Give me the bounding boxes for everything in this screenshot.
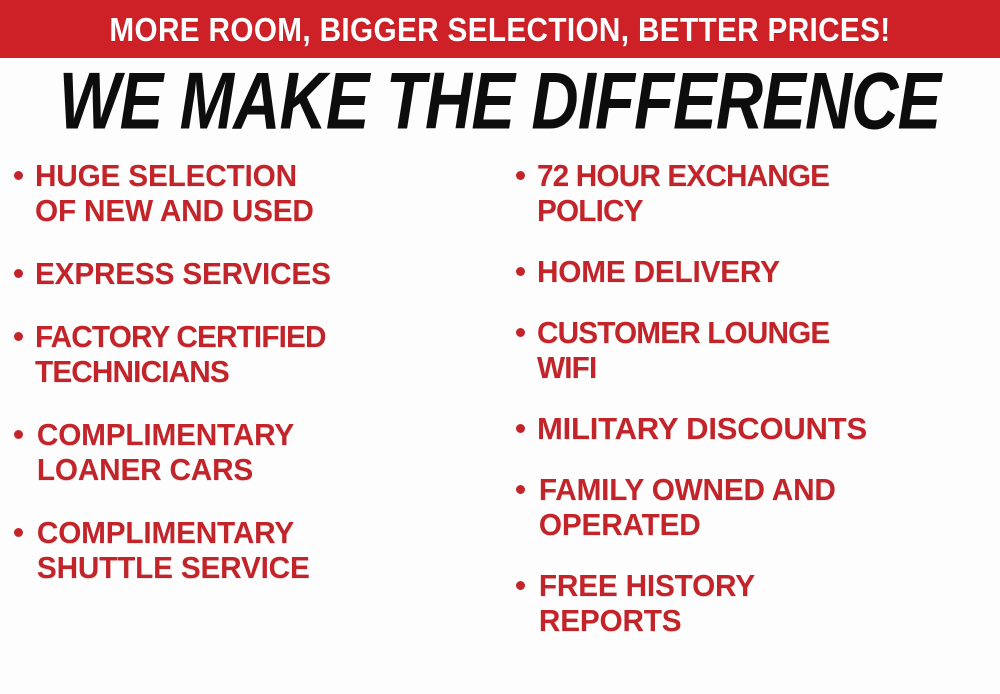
feature-label: CUSTOMER LOUNGE WIFI: [537, 315, 989, 385]
feature-column-right: 72 HOUR EXCHANGE POLICY HOME DELIVERY CU…: [516, 158, 1000, 694]
feature-item: EXPRESS SERVICES: [14, 256, 514, 291]
dot-bullet-icon: [516, 581, 525, 590]
feature-item: HUGE SELECTION OF NEW AND USED: [14, 158, 514, 228]
banner-headline: MORE ROOM, BIGGER SELECTION, BETTER PRIC…: [109, 13, 890, 46]
feature-label: EXPRESS SERVICES: [35, 256, 495, 291]
feature-item: CUSTOMER LOUNGE WIFI: [516, 315, 1000, 385]
feature-item: COMPLIMENTARY SHUTTLE SERVICE: [14, 515, 514, 585]
feature-label: FACTORY CERTIFIED TECHNICIANS: [35, 319, 495, 389]
feature-item: FACTORY CERTIFIED TECHNICIANS: [14, 319, 514, 389]
feature-label: HOME DELIVERY: [537, 254, 989, 289]
dot-bullet-icon: [14, 269, 23, 278]
dot-bullet-icon: [14, 171, 23, 180]
headline-container: WE MAKE THE DIFFERENCE: [0, 62, 1000, 142]
feature-label: HUGE SELECTION OF NEW AND USED: [35, 158, 495, 228]
feature-item: 72 HOUR EXCHANGE POLICY: [516, 158, 1000, 228]
feature-label: 72 HOUR EXCHANGE POLICY: [537, 158, 989, 228]
feature-item: FREE HISTORY REPORTS: [516, 568, 1000, 638]
dot-bullet-icon: [14, 430, 23, 439]
feature-label: COMPLIMENTARY LOANER CARS: [35, 417, 495, 487]
feature-item: COMPLIMENTARY LOANER CARS: [14, 417, 514, 487]
feature-label: COMPLIMENTARY SHUTTLE SERVICE: [35, 515, 495, 585]
feature-columns: HUGE SELECTION OF NEW AND USED EXPRESS S…: [0, 158, 1000, 694]
feature-item: FAMILY OWNED AND OPERATED: [516, 472, 1000, 542]
top-banner: MORE ROOM, BIGGER SELECTION, BETTER PRIC…: [0, 0, 1000, 58]
promotional-poster: MORE ROOM, BIGGER SELECTION, BETTER PRIC…: [0, 0, 1000, 694]
dot-bullet-icon: [516, 171, 525, 180]
main-headline: WE MAKE THE DIFFERENCE: [59, 62, 941, 143]
dot-bullet-icon: [14, 332, 23, 341]
feature-label: FAMILY OWNED AND OPERATED: [537, 472, 989, 542]
feature-item: HOME DELIVERY: [516, 254, 1000, 289]
dot-bullet-icon: [516, 485, 525, 494]
feature-label: MILITARY DISCOUNTS: [537, 411, 1000, 446]
feature-item: MILITARY DISCOUNTS: [516, 411, 1000, 446]
dot-bullet-icon: [516, 267, 525, 276]
feature-column-left: HUGE SELECTION OF NEW AND USED EXPRESS S…: [14, 158, 514, 694]
dot-bullet-icon: [14, 528, 23, 537]
feature-label: FREE HISTORY REPORTS: [537, 568, 989, 638]
dot-bullet-icon: [516, 328, 525, 337]
dot-bullet-icon: [516, 424, 525, 433]
